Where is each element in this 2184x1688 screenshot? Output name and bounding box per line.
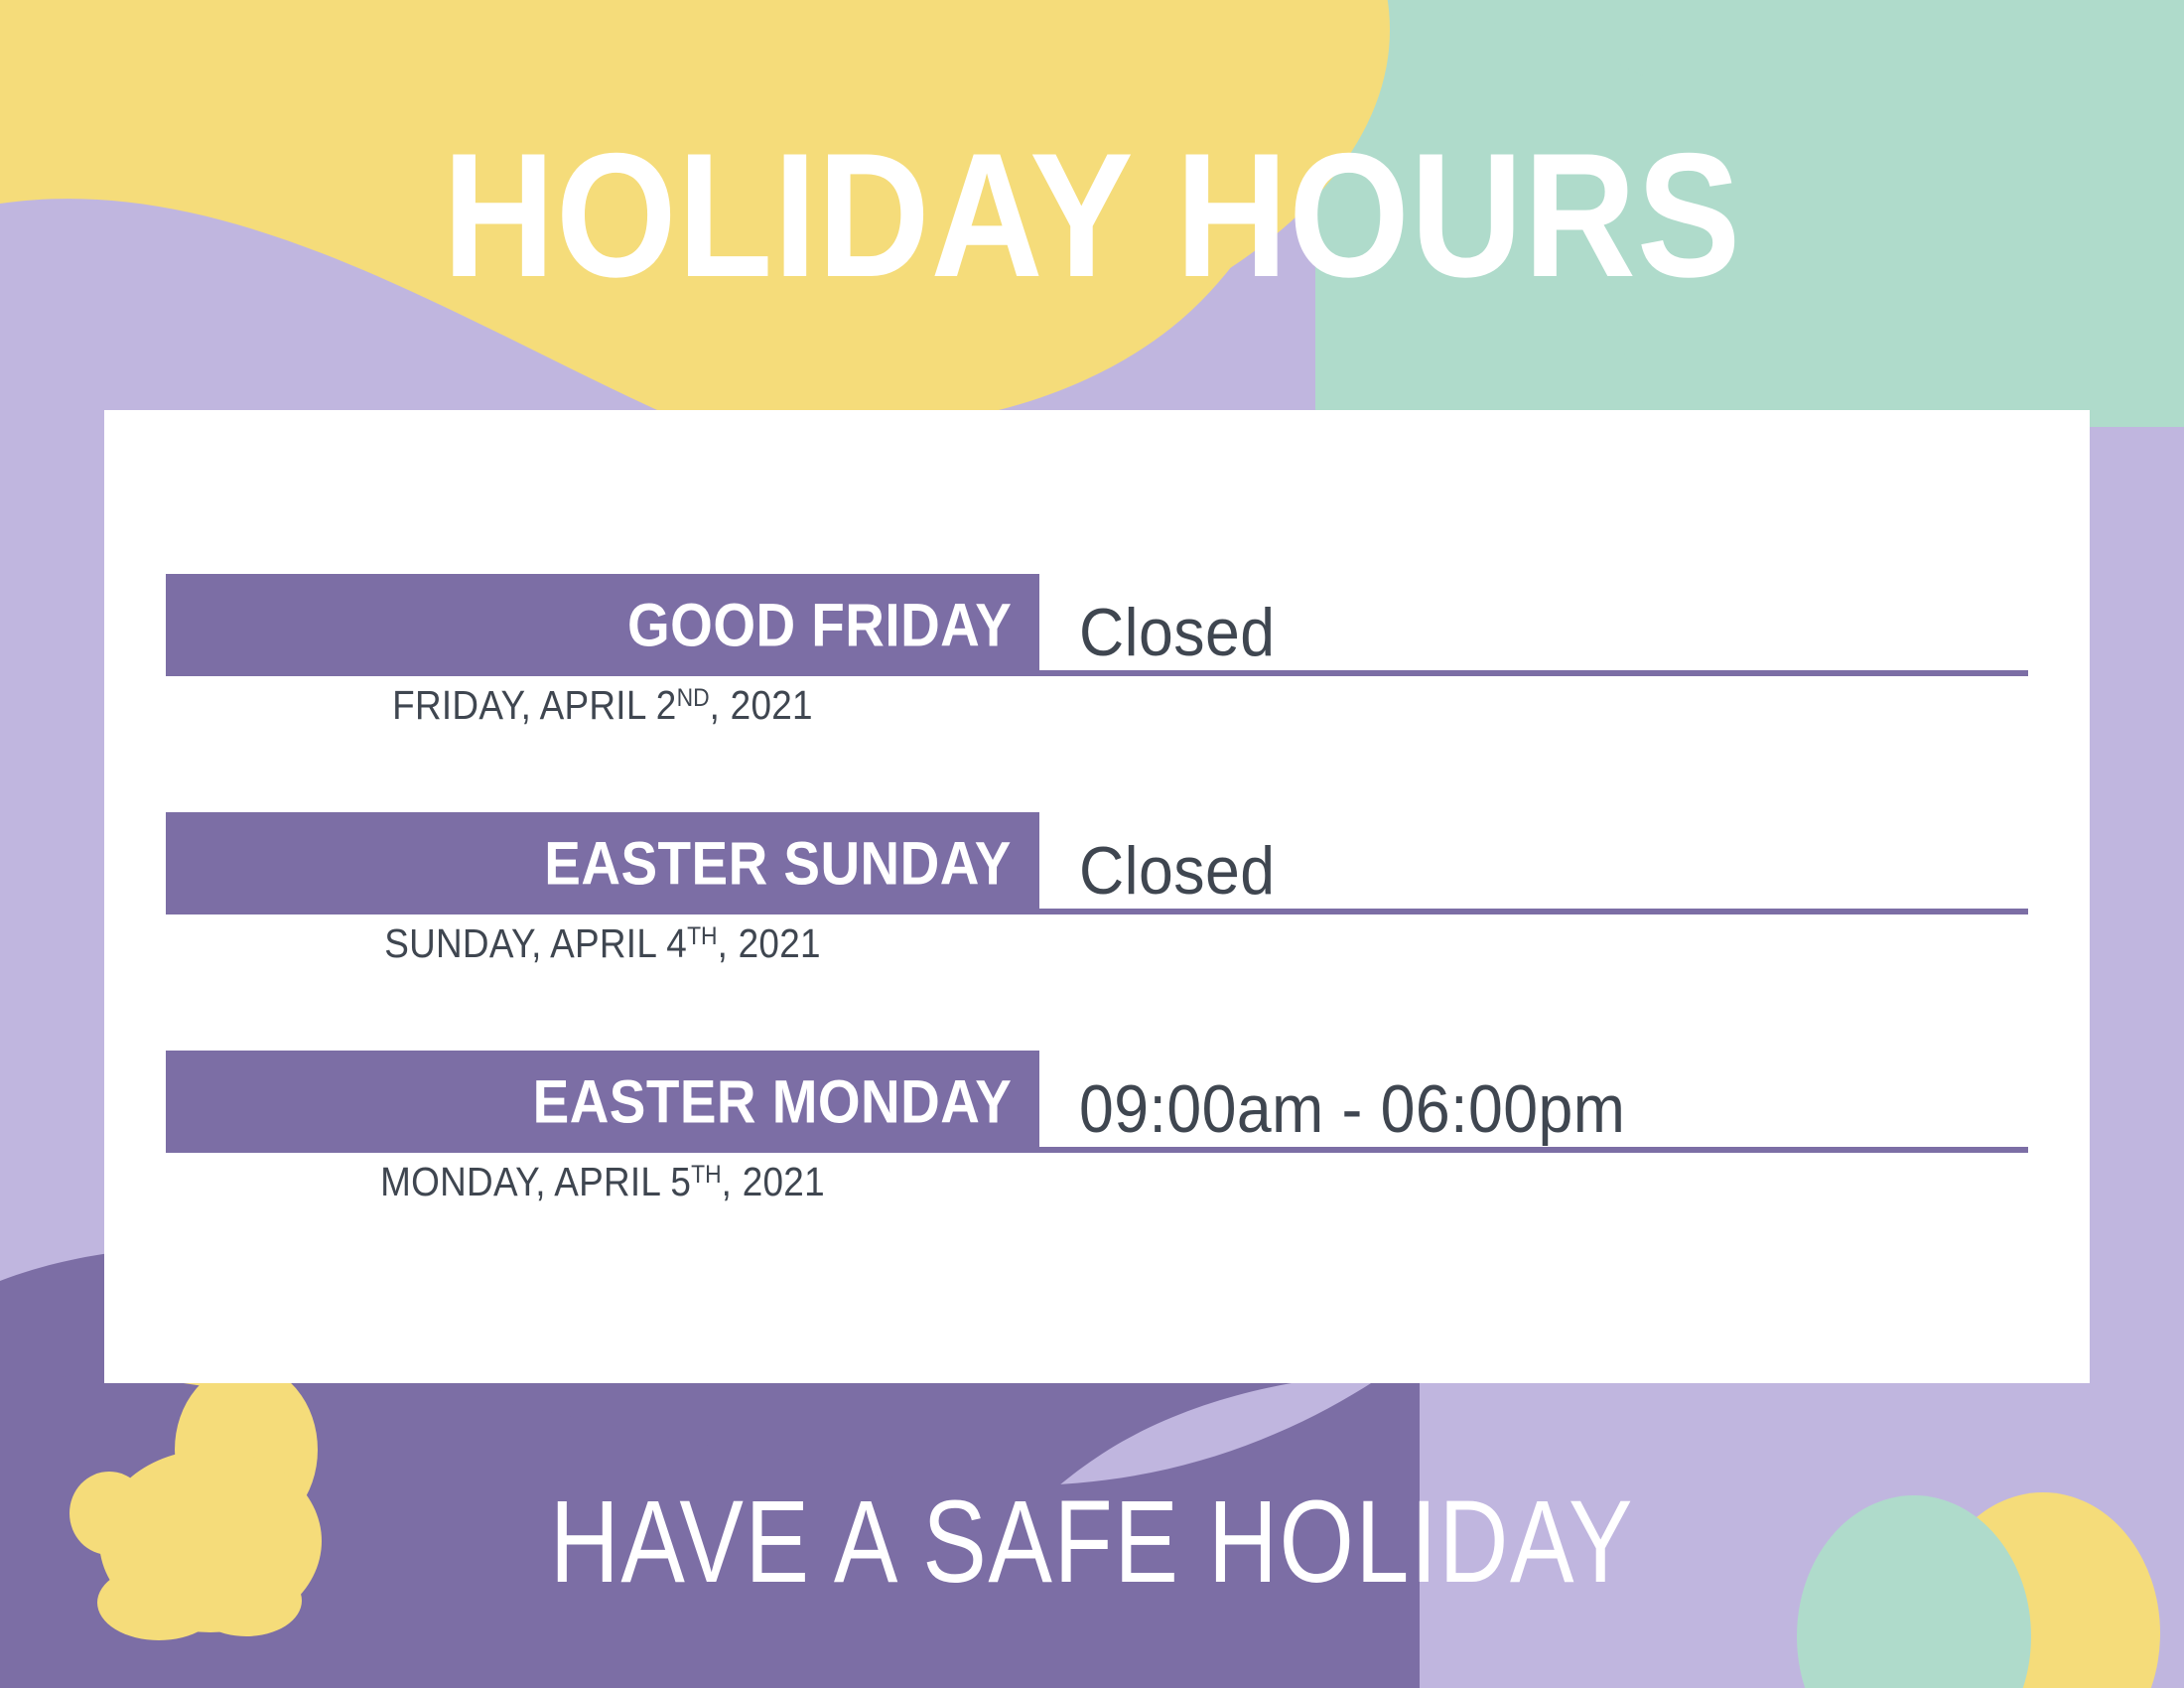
footer-message: HAVE A SAFE HOLIDAY [416,1483,1767,1601]
holiday-date-ordinal: TH [691,1161,721,1189]
schedule-row: GOOD FRIDAY FRIDAY, APRIL 2ND, 2021 Clos… [166,574,2028,812]
holiday-date-prefix: MONDAY, APRIL 5 [380,1159,691,1204]
page-title: HOLIDAY HOURS [131,127,2053,304]
holiday-name-label: EASTER MONDAY [532,1071,1012,1132]
holiday-name-bar: GOOD FRIDAY [166,574,1039,676]
holiday-date-suffix: , 2021 [722,1159,825,1204]
holiday-date-label: MONDAY, APRIL 5TH, 2021 [209,1162,996,1202]
holiday-date-suffix: , 2021 [718,920,821,966]
holiday-name-bar: EASTER MONDAY [166,1051,1039,1153]
holiday-name-label: GOOD FRIDAY [627,595,1012,655]
holiday-hours-value: Closed [1079,598,1275,668]
holiday-date-suffix: , 2021 [710,682,813,728]
holiday-date-label: SUNDAY, APRIL 4TH, 2021 [209,923,996,964]
schedule-row: EASTER SUNDAY SUNDAY, APRIL 4TH, 2021 Cl… [166,812,2028,1051]
holiday-hours-value: 09:00am - 06:00pm [1079,1074,1625,1145]
holiday-date-prefix: SUNDAY, APRIL 4 [384,920,687,966]
schedule-row: EASTER MONDAY MONDAY, APRIL 5TH, 2021 09… [166,1051,2028,1289]
holiday-date-label: FRIDAY, APRIL 2ND, 2021 [209,685,996,726]
holiday-name-label: EASTER SUNDAY [544,833,1012,894]
holiday-hours-value: Closed [1079,836,1275,907]
schedule-card: GOOD FRIDAY FRIDAY, APRIL 2ND, 2021 Clos… [104,410,2090,1383]
holiday-hours-field: Closed [1039,574,2028,676]
holiday-name-bar: EASTER SUNDAY [166,812,1039,914]
holiday-date-prefix: FRIDAY, APRIL 2 [392,682,676,728]
holiday-date-ordinal: TH [687,922,717,950]
holiday-hours-field: 09:00am - 06:00pm [1039,1051,2028,1153]
holiday-hours-poster: HOLIDAY HOURS GOOD FRIDAY FRIDAY, APRIL … [0,0,2184,1688]
holiday-date-ordinal: ND [677,684,710,712]
holiday-hours-field: Closed [1039,812,2028,914]
schedule-rows: GOOD FRIDAY FRIDAY, APRIL 2ND, 2021 Clos… [104,410,2090,1383]
